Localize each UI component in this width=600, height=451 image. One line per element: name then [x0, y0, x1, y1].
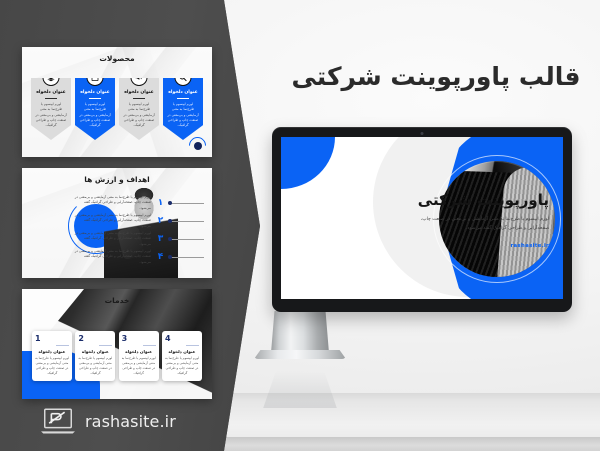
slide-title: خدمات — [22, 296, 212, 305]
item-body: لورم ایپسوم یا طرح‌نما به متنی آزمایشی و… — [74, 213, 151, 229]
divider — [45, 98, 57, 99]
card-number: 3 — [122, 335, 156, 343]
page-title: قالب پاورپوینت شرکتی — [290, 62, 582, 91]
card-body: لورم ایپسوم یا طرح‌نما به متنی آزمایشی و… — [35, 356, 69, 377]
card-title: عنوان دلخواه — [35, 349, 69, 354]
logo-text: rashasite.ir — [85, 412, 176, 431]
connector-line — [170, 203, 204, 204]
pennant-item[interactable]: عنوان دلخواه لورم ایپسوم یا طرح‌نما به م… — [119, 78, 159, 140]
pennant-body: لورم ایپسوم یا طرح‌نما به متنی آزمایشی و… — [75, 102, 115, 128]
slide-body: لورم ایپسوم یا طرح‌نما به متنی آزمایشی و… — [409, 216, 549, 234]
item-number: ۲ — [156, 216, 165, 226]
connector-line — [170, 239, 204, 240]
list-item[interactable]: ۴ لورم ایپسوم یا طرح‌نما به متنی آزمایشی… — [74, 248, 204, 266]
promo-banner: محصولات عنوان دلخواه لورم ایپسوم یا طرح‌… — [0, 0, 600, 451]
pennant-body: لورم ایپسوم یا طرح‌نما به متنی آزمایشی و… — [163, 102, 203, 128]
divider — [89, 98, 101, 99]
list-item[interactable]: ۲ لورم ایپسوم یا طرح‌نما به متنی آزمایشی… — [74, 212, 204, 230]
divider — [143, 345, 156, 346]
monitor-bezel: پاورپوینت شرکتی لورم ایپسوم یا طرح‌نما ب… — [272, 127, 572, 312]
pennant-row: عنوان دلخواه لورم ایپسوم یا طرح‌نما به م… — [31, 78, 203, 148]
monitor-screen[interactable]: پاورپوینت شرکتی لورم ایپسوم یا طرح‌نما ب… — [281, 137, 563, 299]
item-body: لورم ایپسوم یا طرح‌نما به متنی آزمایشی و… — [74, 249, 151, 265]
card-title: عنوان دلخواه — [165, 349, 199, 354]
monitor-stand-neck — [271, 311, 329, 353]
webcam-icon — [421, 132, 424, 135]
blue-corner-shape — [281, 137, 335, 189]
card-body: لورم ایپسوم یا طرح‌نما به متنی آزمایشی و… — [78, 356, 112, 377]
item-number: ۱ — [156, 198, 165, 208]
pennant-body: لورم ایپسوم یا طرح‌نما به متنی آزمایشی و… — [31, 102, 71, 128]
slide-title: پاورپوینت شرکتی — [409, 191, 549, 209]
service-card[interactable]: 1 عنوان دلخواه لورم ایپسوم یا طرح‌نما به… — [32, 331, 72, 381]
card-body: لورم ایپسوم یا طرح‌نما به متنی آزمایشی و… — [165, 356, 199, 377]
divider — [133, 98, 145, 99]
pennant-title: عنوان دلخواه — [119, 90, 159, 96]
card-number: 1 — [35, 335, 69, 343]
item-body: لورم ایپسوم یا طرح‌نما به متنی آزمایشی و… — [74, 231, 151, 247]
desktop-monitor: پاورپوینت شرکتی لورم ایپسوم یا طرح‌نما ب… — [272, 127, 572, 312]
divider — [186, 345, 199, 346]
divider — [56, 345, 69, 346]
slide-text-block: پاورپوینت شرکتی لورم ایپسوم یا طرح‌نما ب… — [409, 191, 549, 249]
slide-thumbnail-services[interactable]: خدمات 4 عنوان دلخواه لورم ایپسوم یا طرح‌… — [22, 289, 212, 399]
item-number: ۴ — [156, 252, 165, 262]
connector-line — [170, 221, 204, 222]
monitor-stand-base — [254, 350, 346, 359]
pennant-body: لورم ایپسوم یا طرح‌نما به متنی آزمایشی و… — [119, 102, 159, 128]
service-card[interactable]: 3 عنوان دلخواه لورم ایپسوم یا طرح‌نما به… — [119, 331, 159, 381]
laptop-r-monogram-icon — [40, 407, 76, 435]
card-body: لورم ایپسوم یا طرح‌نما به متنی آزمایشی و… — [122, 356, 156, 377]
pennant-item[interactable]: عنوان دلخواه لورم ایپسوم یا طرح‌نما به م… — [75, 78, 115, 140]
service-card[interactable]: 4 عنوان دلخواه لورم ایپسوم یا طرح‌نما به… — [162, 331, 202, 381]
service-card[interactable]: 2 عنوان دلخواه لورم ایپسوم یا طرح‌نما به… — [75, 331, 115, 381]
slide-thumbnail-goals[interactable]: اهداف و ارزش ها ۱ لورم ایپسوم یا طرح‌نما… — [22, 168, 212, 278]
divider — [99, 345, 112, 346]
slide-title: محصولات — [22, 54, 212, 63]
goal-list: ۱ لورم ایپسوم یا طرح‌نما به متنی آزمایشی… — [74, 194, 204, 266]
desk-surface-edge — [210, 437, 600, 451]
monitor-reflection — [254, 360, 346, 408]
pennant-title: عنوان دلخواه — [75, 90, 115, 96]
list-item[interactable]: ۳ لورم ایپسوم یا طرح‌نما به متنی آزمایشی… — [74, 230, 204, 248]
service-card-row: 4 عنوان دلخواه لورم ایپسوم یا طرح‌نما به… — [32, 331, 202, 381]
footer-logo[interactable]: rashasite.ir — [40, 407, 176, 435]
card-title: عنوان دلخواه — [122, 349, 156, 354]
pennant-title: عنوان دلخواه — [163, 90, 203, 96]
card-number: 4 — [165, 335, 199, 343]
slide-thumbnail-products[interactable]: محصولات عنوان دلخواه لورم ایپسوم یا طرح‌… — [22, 47, 212, 157]
decorative-dot — [194, 142, 202, 150]
item-body: لورم ایپسوم یا طرح‌نما به متنی آزمایشی و… — [74, 195, 151, 211]
slide-link[interactable]: rashasite.ir — [409, 243, 549, 249]
divider — [177, 98, 189, 99]
list-item[interactable]: ۱ لورم ایپسوم یا طرح‌نما به متنی آزمایشی… — [74, 194, 204, 212]
card-number: 2 — [78, 335, 112, 343]
slide-title: اهداف و ارزش ها — [22, 175, 212, 184]
connector-line — [170, 257, 204, 258]
pennant-item[interactable]: عنوان دلخواه لورم ایپسوم یا طرح‌نما به م… — [163, 78, 203, 140]
pennant-item[interactable]: عنوان دلخواه لورم ایپسوم یا طرح‌نما به م… — [31, 78, 71, 140]
pennant-title: عنوان دلخواه — [31, 90, 71, 96]
item-number: ۳ — [156, 234, 165, 244]
card-title: عنوان دلخواه — [78, 349, 112, 354]
